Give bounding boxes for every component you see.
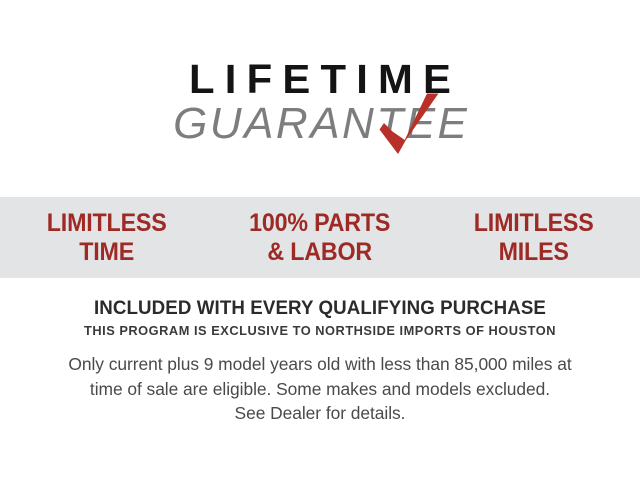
benefit-line-2: TIME bbox=[7, 238, 205, 267]
benefit-line-2: MILES bbox=[434, 238, 632, 267]
fine-print: Only current plus 9 model years old with… bbox=[20, 352, 620, 426]
benefit-column-limitless-time: LIMITLESS TIME bbox=[7, 209, 205, 267]
included-heading: INCLUDED WITH EVERY QUALIFYING PURCHASE bbox=[13, 297, 627, 319]
logo-lifetime-text: LIFETIME bbox=[0, 58, 640, 100]
fine-print-line: See Dealer for details. bbox=[20, 401, 620, 426]
benefit-line-1: LIMITLESS bbox=[47, 209, 167, 237]
benefit-column-parts-labor: 100% PARTS & LABOR bbox=[221, 209, 419, 267]
fine-print-line: Only current plus 9 model years old with… bbox=[20, 352, 620, 377]
exclusive-subheading: THIS PROGRAM IS EXCLUSIVE TO NORTHSIDE I… bbox=[10, 323, 631, 339]
benefit-line-2: & LABOR bbox=[221, 238, 419, 267]
logo-block: LIFETIME GUARANTEE bbox=[0, 44, 640, 164]
benefit-line-1: LIMITLESS bbox=[473, 209, 593, 237]
lifetime-guarantee-ad: LIFETIME GUARANTEE LIMITLESS TIME 100% P… bbox=[0, 0, 640, 480]
benefit-line-1: 100% PARTS bbox=[249, 209, 390, 237]
benefit-column-limitless-miles: LIMITLESS MILES bbox=[434, 209, 632, 267]
logo-guarantee-text: GUARANTEE bbox=[0, 101, 640, 147]
fine-print-line: time of sale are eligible. Some makes an… bbox=[20, 377, 620, 402]
benefits-band: LIMITLESS TIME 100% PARTS & LABOR LIMITL… bbox=[0, 197, 640, 278]
